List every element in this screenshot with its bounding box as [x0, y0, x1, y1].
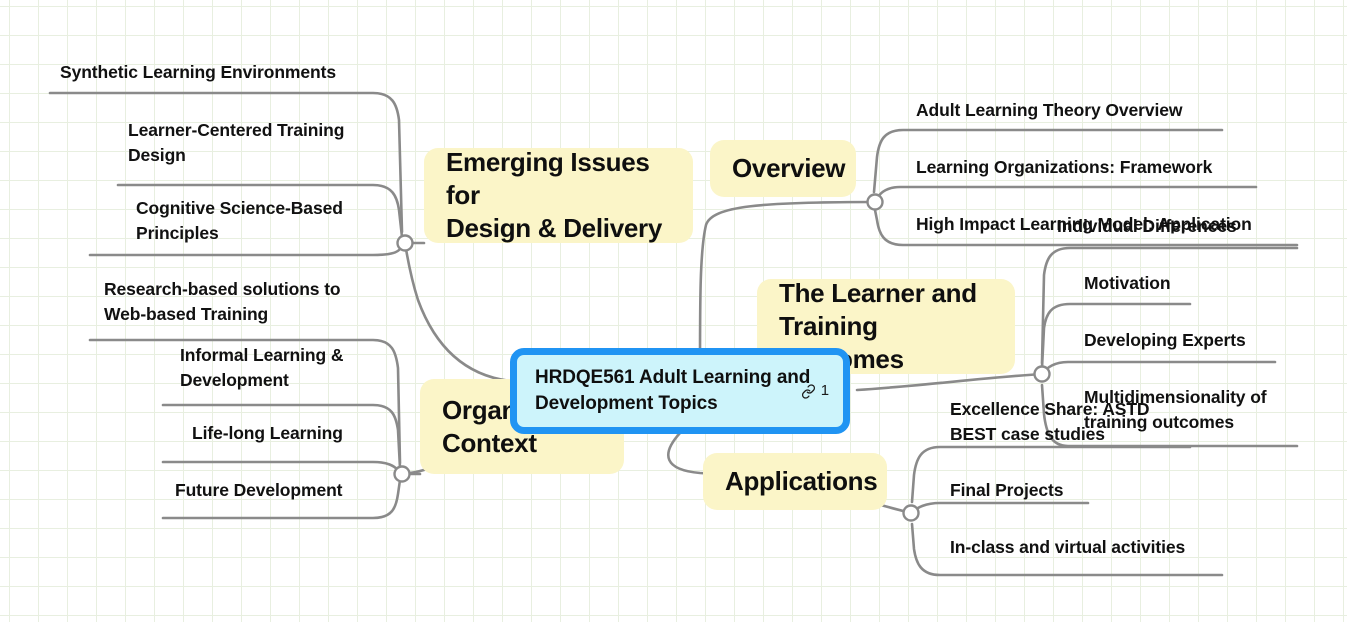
leaf-synthetic-learning-environments[interactable]: Synthetic Learning Environments	[60, 60, 336, 85]
link-badge[interactable]: 1	[801, 378, 829, 404]
wire-leaf-cognitive	[90, 247, 402, 255]
leaf-excellence-share-astd[interactable]: Excellence Share: ASTD BEST case studies	[950, 397, 1200, 447]
wire-leaf-developing-experts	[1042, 362, 1275, 374]
leaf-research-based-solutions[interactable]: Research-based solutions to Web-based Tr…	[104, 277, 384, 327]
leaf-learner-centered-training-design[interactable]: Learner-Centered Training Design	[128, 118, 378, 168]
link-icon	[801, 384, 816, 399]
topic-overview[interactable]: Overview	[710, 140, 856, 197]
leaf-final-projects[interactable]: Final Projects	[950, 478, 1063, 503]
leaf-individual-differences[interactable]: Individual Differences	[1057, 214, 1237, 239]
leaf-developing-experts[interactable]: Developing Experts	[1084, 328, 1246, 353]
wire-root-to-left-top	[405, 243, 527, 382]
junction-right-bottom[interactable]	[904, 506, 919, 521]
link-badge-count: 1	[821, 378, 829, 404]
junction-left-top[interactable]	[398, 236, 413, 251]
mindmap-canvas: Synthetic Learning Environments Learner-…	[0, 0, 1347, 622]
leaf-adult-learning-theory-overview[interactable]: Adult Learning Theory Overview	[916, 98, 1182, 123]
root-node-label: HRDQE561 Adult Learning and Development …	[535, 365, 810, 417]
wire-root-to-right-mid	[857, 374, 1042, 390]
leaf-informal-learning-development[interactable]: Informal Learning & Development	[180, 343, 390, 393]
junction-right-mid[interactable]	[1035, 367, 1050, 382]
wire-leaf-lifelong	[163, 462, 400, 472]
junction-left-bottom[interactable]	[395, 467, 410, 482]
junction-right-top[interactable]	[868, 195, 883, 210]
leaf-future-development[interactable]: Future Development	[175, 478, 342, 503]
leaf-life-long-learning[interactable]: Life-long Learning	[192, 421, 343, 446]
leaf-cognitive-science-based-principles[interactable]: Cognitive Science-Based Principles	[136, 196, 386, 246]
topic-applications[interactable]: Applications	[703, 453, 887, 510]
root-node[interactable]: HRDQE561 Adult Learning and Development …	[510, 348, 850, 434]
wire-leaf-learning-orgs	[876, 187, 1256, 200]
topic-emerging-issues-for-design-and-delivery[interactable]: Emerging Issues for Design & Delivery	[424, 148, 693, 243]
leaf-motivation[interactable]: Motivation	[1084, 271, 1171, 296]
leaf-learning-organizations-framework[interactable]: Learning Organizations: Framework	[916, 155, 1212, 180]
wire-leaf-final-projects	[912, 503, 1088, 513]
leaf-in-class-and-virtual-activities[interactable]: In-class and virtual activities	[950, 535, 1185, 560]
